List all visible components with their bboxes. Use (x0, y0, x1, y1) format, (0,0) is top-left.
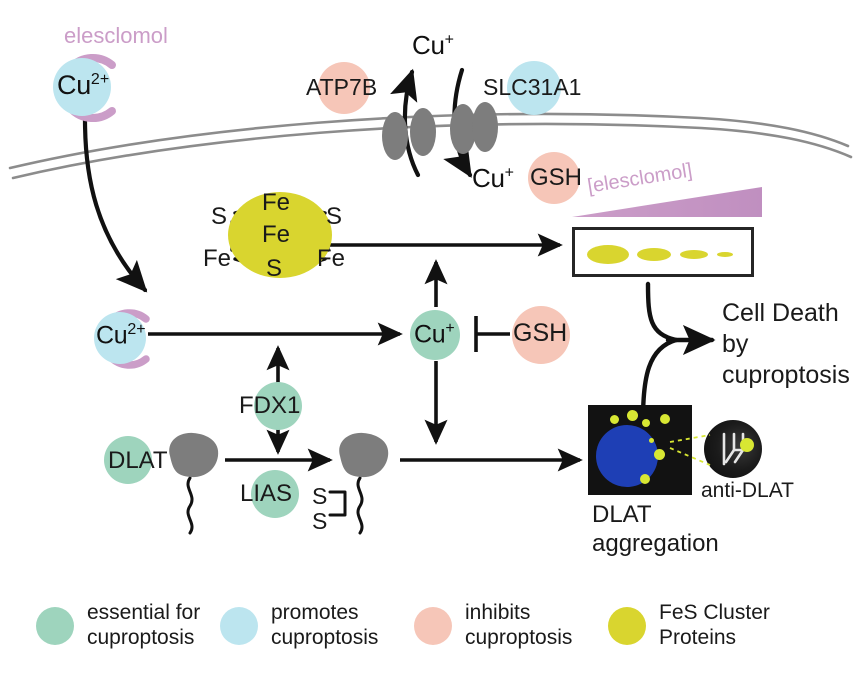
legend-label-line1: promotes (271, 601, 378, 626)
cell-death-line2: by (722, 331, 748, 357)
dlat-aggregation-caption-line1: DLAT (592, 502, 652, 527)
fes-atom-fe-center: Fe (262, 222, 290, 247)
legend-swatch-green (36, 607, 74, 645)
elesclomol-import-arrow (85, 120, 145, 290)
legend-label-line1: essential for (87, 601, 200, 626)
dlat-punctum (642, 419, 650, 427)
legend-item-fes: FeS Cluster Proteins (608, 601, 770, 651)
legend-swatch-blue (220, 607, 258, 645)
legend-swatch-yellow (608, 607, 646, 645)
intracellular-cu1-label: Cu+ (414, 320, 455, 349)
dlat-punctum (649, 438, 654, 443)
legend: essential for cuproptosis promotes cupro… (0, 575, 855, 682)
dlat-punctum (640, 474, 650, 484)
slc31a1-pore-right (472, 102, 498, 152)
intracellular-cu2-label: Cu2+ (96, 321, 146, 350)
legend-item-promotes: promotes cuproptosis (220, 601, 378, 651)
gsh-inner-label: GSH (513, 320, 567, 346)
dlat-label: DLAT (108, 448, 168, 473)
atp7b-label: ATP7B (306, 75, 377, 99)
dlat-punctum (627, 410, 638, 421)
legend-label-line2: cuproptosis (271, 626, 378, 651)
lipoyl-sulfur-bottom: S (312, 509, 327, 533)
atp7b-pore-left (382, 112, 408, 160)
dlat-punctum (610, 415, 619, 424)
elesclomol-label: elesclomol (64, 24, 168, 47)
fes-atom-fe-lower-left: Fe (203, 246, 231, 271)
fes-atom-s-bottom: S (266, 256, 282, 281)
atp7b-pore-right (410, 108, 436, 156)
imported-cu-label: Cu+ (472, 163, 514, 194)
cell-death-line3: cuproptosis (722, 362, 850, 388)
lipoyl-sulfur-top: S (312, 484, 327, 508)
lias-label: LIAS (240, 481, 292, 506)
legend-label-line1: FeS Cluster (659, 601, 770, 626)
legend-item-essential: essential for cuproptosis (36, 601, 200, 651)
dlat-protein-blob (160, 430, 224, 482)
legend-swatch-pink (414, 607, 452, 645)
dlat-punctum (660, 414, 670, 424)
blot-band (637, 248, 671, 261)
extracellular-cu2-label: Cu2+ (57, 70, 109, 101)
legend-label-line2: Proteins (659, 626, 770, 651)
blot-band (717, 252, 733, 257)
fdx1-label: FDX1 (239, 393, 300, 418)
gsh-inhibition-connector (476, 316, 510, 352)
antibody-pointer-lines (668, 432, 714, 474)
anti-dlat-label: anti-DLAT (701, 480, 794, 502)
blot-band (587, 245, 629, 264)
cell-death-line1: Cell Death (722, 300, 839, 326)
fes-atom-fe-lower-right: Fe (317, 246, 345, 271)
slc31a1-label: SLC31A1 (483, 75, 581, 99)
fes-atom-fe-top: Fe (262, 190, 290, 215)
legend-label-line2: cuproptosis (465, 626, 572, 651)
fes-blot-panel (572, 227, 754, 277)
fes-atom-s-upper-left: S (211, 204, 227, 229)
legend-label-line1: inhibits (465, 601, 572, 626)
legend-label-line2: cuproptosis (87, 626, 200, 651)
dlat-lipoylated-blob (330, 430, 394, 482)
exported-cu-label: Cu+ (412, 30, 454, 61)
readout-to-celldeath-arrow (643, 284, 712, 420)
dlat-punctum (654, 449, 665, 460)
dlat-aggregation-caption-line2: aggregation (592, 531, 719, 556)
blot-band (680, 250, 708, 259)
figure-canvas: elesclomol Cu2+ ATP7B SLC31A1 Cu+ Cu+ GS… (0, 0, 855, 682)
legend-item-inhibits: inhibits cuproptosis (414, 601, 572, 651)
fes-atom-s-upper-right: S (326, 204, 342, 229)
